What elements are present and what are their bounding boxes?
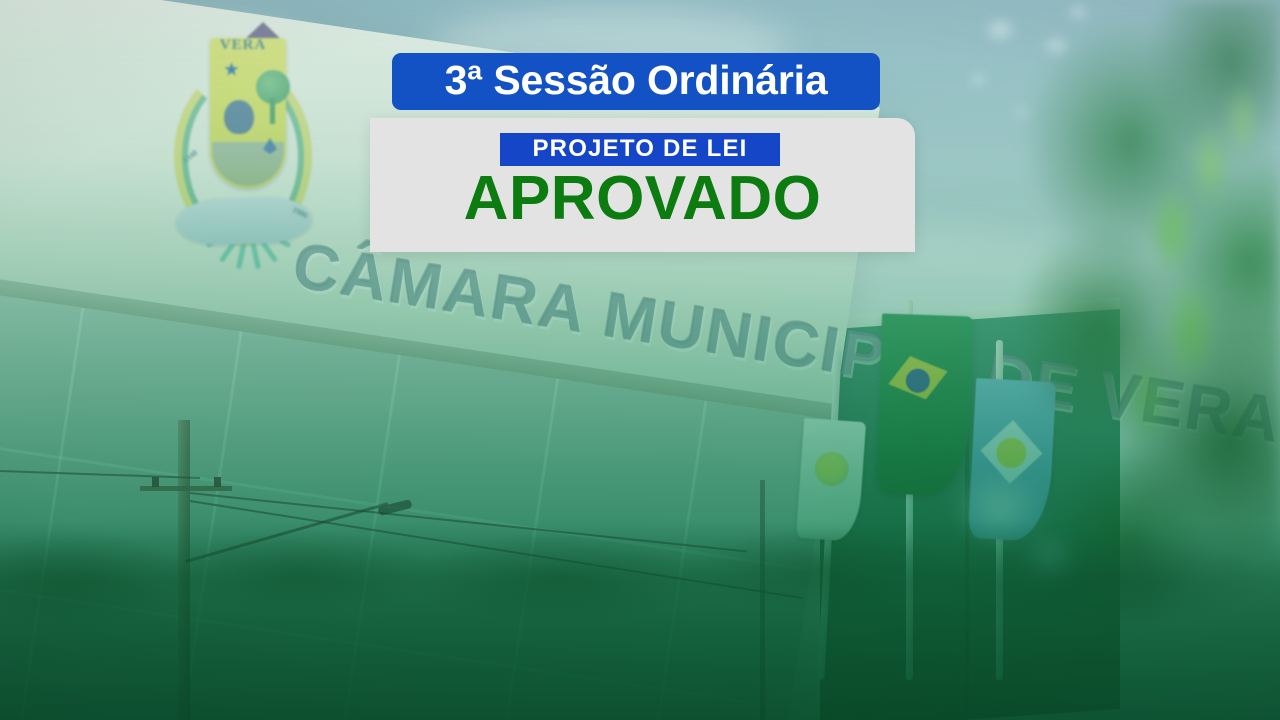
document-type-label: PROJETO DE LEI: [532, 137, 747, 163]
status-label: APROVADO: [370, 168, 915, 230]
broadcast-lower-third-frame: VERA 1348 1986 CÂMARA MUNICIPAL DE VERA: [0, 0, 1280, 720]
result-info-card: PROJETO DE LEI APROVADO: [370, 118, 915, 252]
session-headline-text: 3ª Sessão Ordinária: [445, 60, 828, 104]
session-headline-banner: 3ª Sessão Ordinária: [392, 53, 880, 110]
document-type-badge: PROJETO DE LEI: [500, 133, 780, 166]
